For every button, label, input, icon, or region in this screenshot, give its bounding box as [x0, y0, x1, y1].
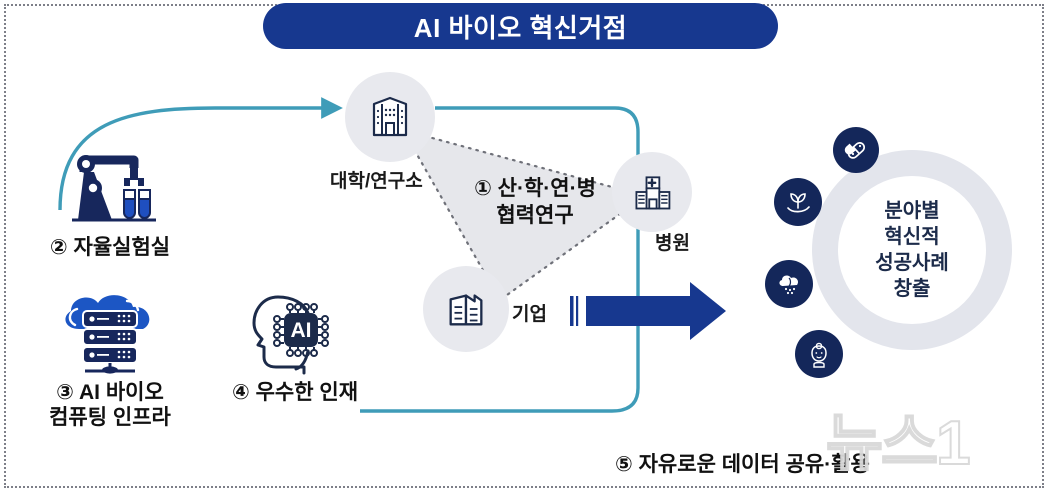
- page-title: AI 바이오 혁신거점: [414, 8, 627, 45]
- ai-head-chip-icon: AI: [240, 285, 350, 377]
- svg-text:AI: AI: [291, 319, 312, 342]
- ai-head-chip-icon-wrap: AI: [205, 285, 385, 377]
- node-label-hospital: 병원: [655, 228, 690, 255]
- orbit-badge-aging[interactable]: [795, 330, 843, 378]
- left-item-label-talent: ④ 우수한 인재: [205, 381, 385, 406]
- page-title-pill: AI 바이오 혁신거점: [263, 3, 778, 49]
- elderly-person-face-icon: [805, 340, 833, 368]
- pill-capsule-icon: [843, 137, 869, 163]
- left-item-label-computing-infra: ③ AI 바이오 컴퓨팅 인프라: [10, 381, 210, 431]
- left-item-autonomous-lab[interactable]: ② 자율실험실: [10, 140, 210, 261]
- robot-arm-test-tube-icon: [50, 142, 170, 230]
- outcome-label: 분야별 혁신적 성공사례 창출: [812, 150, 1012, 350]
- node-company[interactable]: [423, 266, 509, 352]
- collaboration-caption: ① 산·학·연·병 협력연구: [440, 175, 630, 230]
- outcome-arrow: [570, 282, 726, 340]
- plant-in-hand-icon: [784, 188, 812, 216]
- orbit-badge-agriculture[interactable]: [774, 178, 822, 226]
- cloud-rain-icon: [775, 270, 803, 298]
- flow-talent-to-loop: [360, 388, 638, 411]
- left-item-talent[interactable]: AI ④ 우수한 인재: [205, 285, 385, 406]
- factory-icon: [443, 286, 489, 332]
- orbit-badge-climate[interactable]: [765, 260, 813, 308]
- cloud-server-icon-wrap: [10, 285, 210, 377]
- left-item-label-autonomous-lab: ② 자율실험실: [10, 236, 210, 261]
- cloud-server-icon: [51, 285, 169, 377]
- hospital-icon: [630, 170, 674, 214]
- robot-arm-test-tube-icon-wrap: [10, 140, 210, 232]
- outcome-donut[interactable]: 분야별 혁신적 성공사례 창출: [812, 150, 1012, 350]
- university-building-icon: [366, 93, 414, 141]
- news1-watermark: 뉴스1: [826, 392, 969, 482]
- left-item-computing-infra[interactable]: ③ AI 바이오 컴퓨팅 인프라: [10, 285, 210, 431]
- infographic-canvas: AI 바이오 혁신거점: [0, 0, 1050, 494]
- node-label-university: 대학/연구소: [330, 166, 423, 193]
- node-university[interactable]: [345, 72, 435, 162]
- orbit-badge-pharma[interactable]: [833, 127, 879, 173]
- node-label-company: 기업: [512, 299, 547, 326]
